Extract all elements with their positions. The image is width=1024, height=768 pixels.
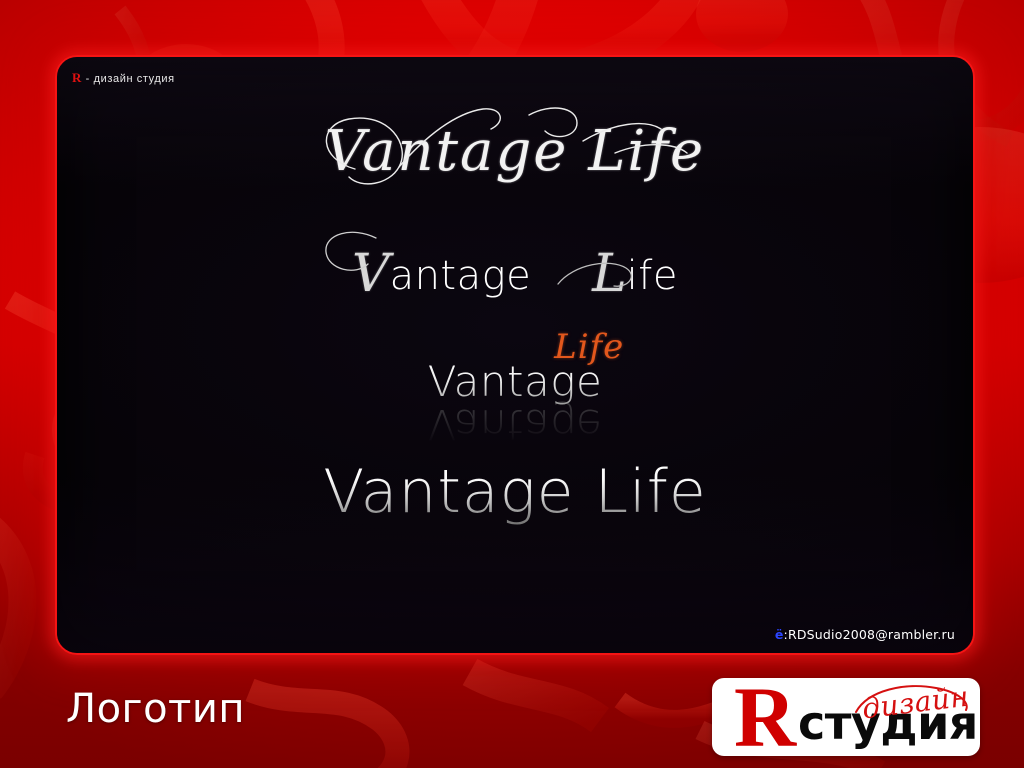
logo-variant-gradient-sans: Vantage Life: [57, 457, 973, 527]
logo-variant-reflection: Vantage Vantage Life: [57, 357, 973, 449]
logo-variant-3-wrap: Vantage Vantage Life: [428, 357, 603, 449]
page-title: Логотип: [66, 686, 245, 732]
logo-variant-2-rest-ife: ife: [627, 253, 678, 299]
logo-variant-2-word-two: Life: [592, 242, 678, 302]
logo-variant-3-reflection-text: Vantage: [428, 400, 603, 449]
logo-variant-2-rest-antage: antage: [390, 253, 532, 299]
logo-variant-2-word-one: Vantage: [352, 242, 531, 302]
contact-email-address: :RDSudio2008@rambler.ru: [784, 627, 955, 642]
logo-variant-script-caps: Vantage Life: [57, 242, 973, 302]
studio-logo-badge[interactable]: R студия дизайн: [712, 678, 980, 756]
logo-variant-2-cap-l: L: [592, 244, 627, 304]
logo-variant-4-text: Vantage Life: [323, 457, 707, 527]
logo-variant-calligraphic: Vantage Life: [57, 119, 973, 184]
studio-badge-letter: R: [734, 678, 796, 756]
logo-variant-2-cap-v: V: [352, 244, 390, 304]
logo-variant-1-text: Vantage Life: [325, 119, 705, 184]
contact-email[interactable]: ё:RDSudio2008@rambler.ru: [775, 627, 955, 642]
slide-canvas: R - дизайн студия Vantage Life: [0, 0, 1024, 768]
logo-variants-list: Vantage Life Vantage: [57, 57, 973, 653]
logo-showcase-panel: R - дизайн студия Vantage Life: [55, 55, 975, 655]
envelope-icon: ё: [775, 627, 784, 642]
logo-variant-3-overlay-text: Life: [554, 327, 624, 367]
